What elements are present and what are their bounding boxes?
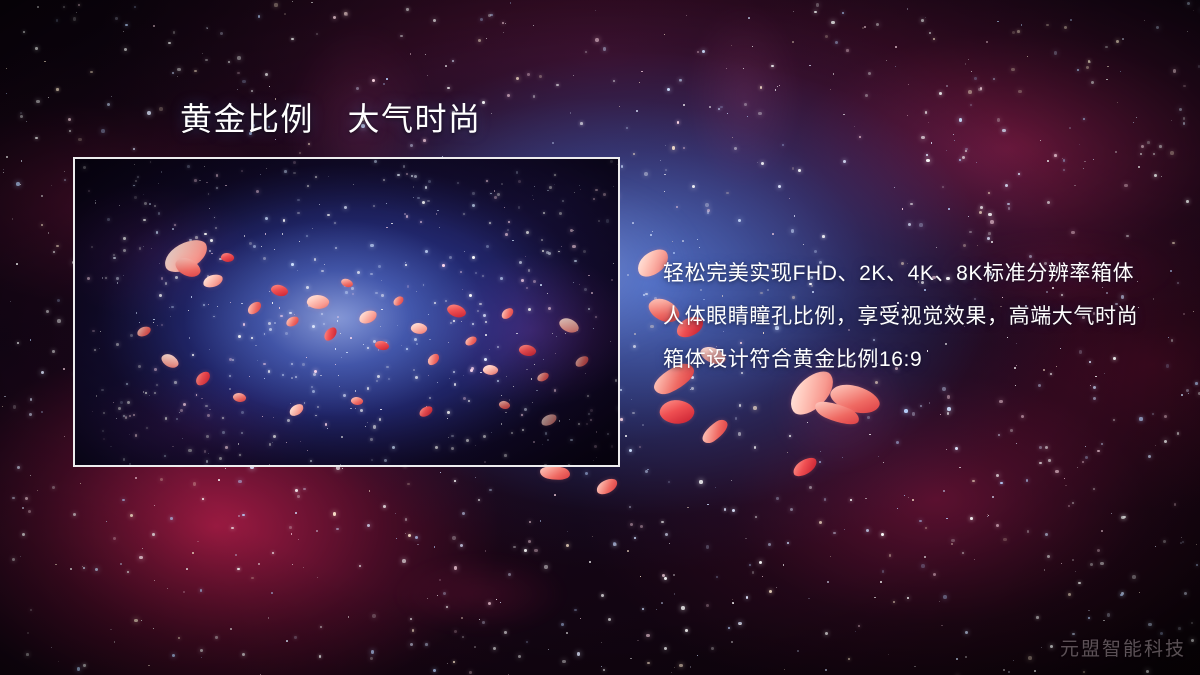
image-panel-frame xyxy=(73,157,620,467)
panel-photo xyxy=(75,159,618,465)
page-title: 黄金比例 大气时尚 xyxy=(180,99,482,139)
petal xyxy=(594,477,619,497)
petal xyxy=(812,395,861,430)
body-text-block: 轻松完美实现FHD、2K、4K、8K标准分辨率箱体 人体眼睛瞳孔比例，享受视觉效… xyxy=(663,252,1163,381)
body-line-3: 箱体设计符合黄金比例16:9 xyxy=(663,338,1163,381)
petal xyxy=(658,396,697,428)
watermark: 元盟智能科技 xyxy=(1060,634,1186,661)
body-line-2: 人体眼睛瞳孔比例，享受视觉效果，高端大气时尚 xyxy=(663,295,1163,338)
body-line-1: 轻松完美实现FHD、2K、4K、8K标准分辨率箱体 xyxy=(663,252,1163,295)
slide-canvas: 黄金比例 大气时尚 轻松完美实现FHD、2K、4K、8K标准分辨率箱体 人体眼睛… xyxy=(0,0,1200,675)
panel-vignette xyxy=(75,159,618,465)
petal xyxy=(698,417,731,446)
petal xyxy=(790,455,820,479)
petal xyxy=(827,378,883,421)
